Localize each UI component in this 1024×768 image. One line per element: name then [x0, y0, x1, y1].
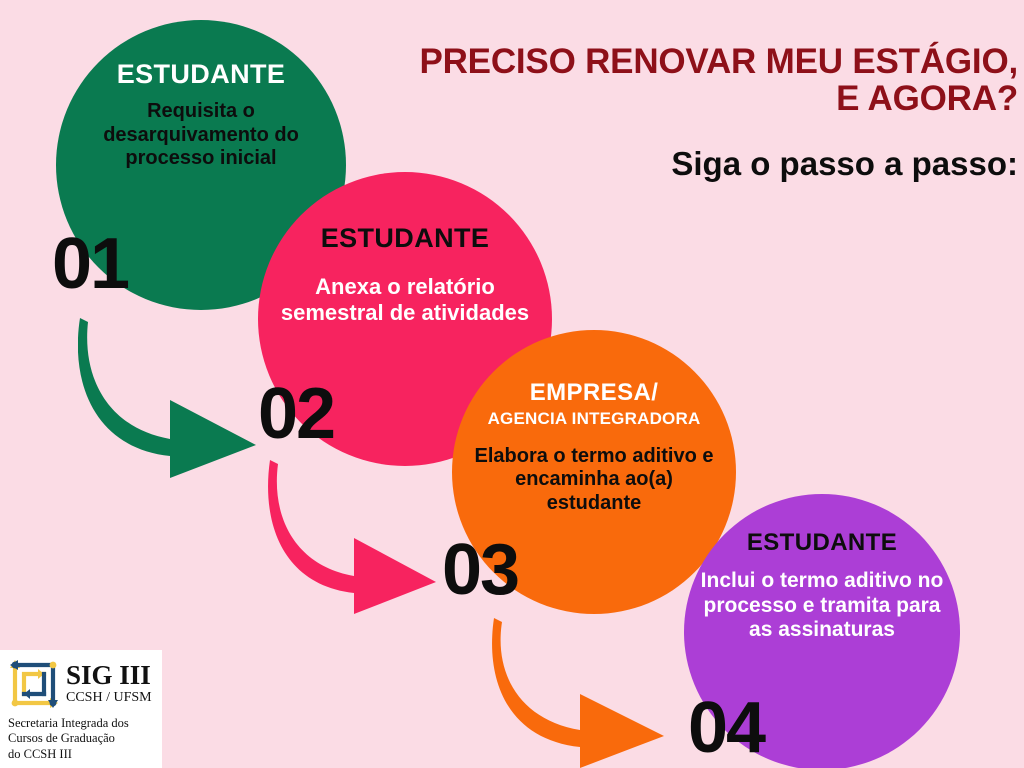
logo-tagline: Secretaria Integrada dos Cursos de Gradu…: [8, 716, 156, 762]
page-subtitle: Siga o passo a passo:: [318, 146, 1018, 182]
logo-unit: CCSH / UFSM: [66, 690, 152, 707]
infographic-poster: PRECISO RENOVAR MEU ESTÁGIO, E AGORA? Si…: [0, 0, 1024, 768]
page-title: PRECISO RENOVAR MEU ESTÁGIO, E AGORA?: [318, 44, 1018, 118]
step-number-01: 01: [52, 228, 128, 300]
logo-lockup: SIG III CCSH / UFSM: [8, 658, 156, 710]
step-role-02: ESTUDANTE: [321, 224, 490, 252]
step-subrole-03: AGENCIA INTEGRADORA: [488, 410, 701, 429]
step-description-03: Elabora o termo aditivo e encaminha ao(a…: [470, 445, 718, 515]
step-role-03: EMPRESA/: [530, 380, 659, 405]
arrow-path-03: [492, 618, 664, 768]
step-description-04: Inclui o termo aditivo no processo e tra…: [696, 569, 948, 643]
step-role-04: ESTUDANTE: [747, 530, 897, 555]
curved-arrow-icon-03: [492, 612, 674, 768]
step-description-01: Requisita o desarquivamento do processo …: [70, 100, 332, 170]
logo-wordmark: SIG III CCSH / UFSM: [66, 662, 152, 707]
step-number-03: 03: [442, 534, 518, 606]
step-number-02: 02: [258, 378, 334, 450]
logo-title: SIG III: [66, 662, 152, 689]
step-description-02: Anexa o relatório semestral de atividade…: [280, 274, 530, 325]
arrow-path-01: [78, 318, 256, 478]
organization-logo: SIG III CCSH / UFSM Secretaria Integrada…: [0, 650, 162, 768]
curved-arrow-icon-01: [78, 308, 268, 483]
step-number-04: 04: [688, 692, 764, 764]
sig-mark-icon: [8, 658, 60, 710]
step-role-01: ESTUDANTE: [117, 60, 286, 88]
curved-arrow-icon-02: [268, 452, 446, 618]
arrow-path-02: [268, 460, 436, 614]
